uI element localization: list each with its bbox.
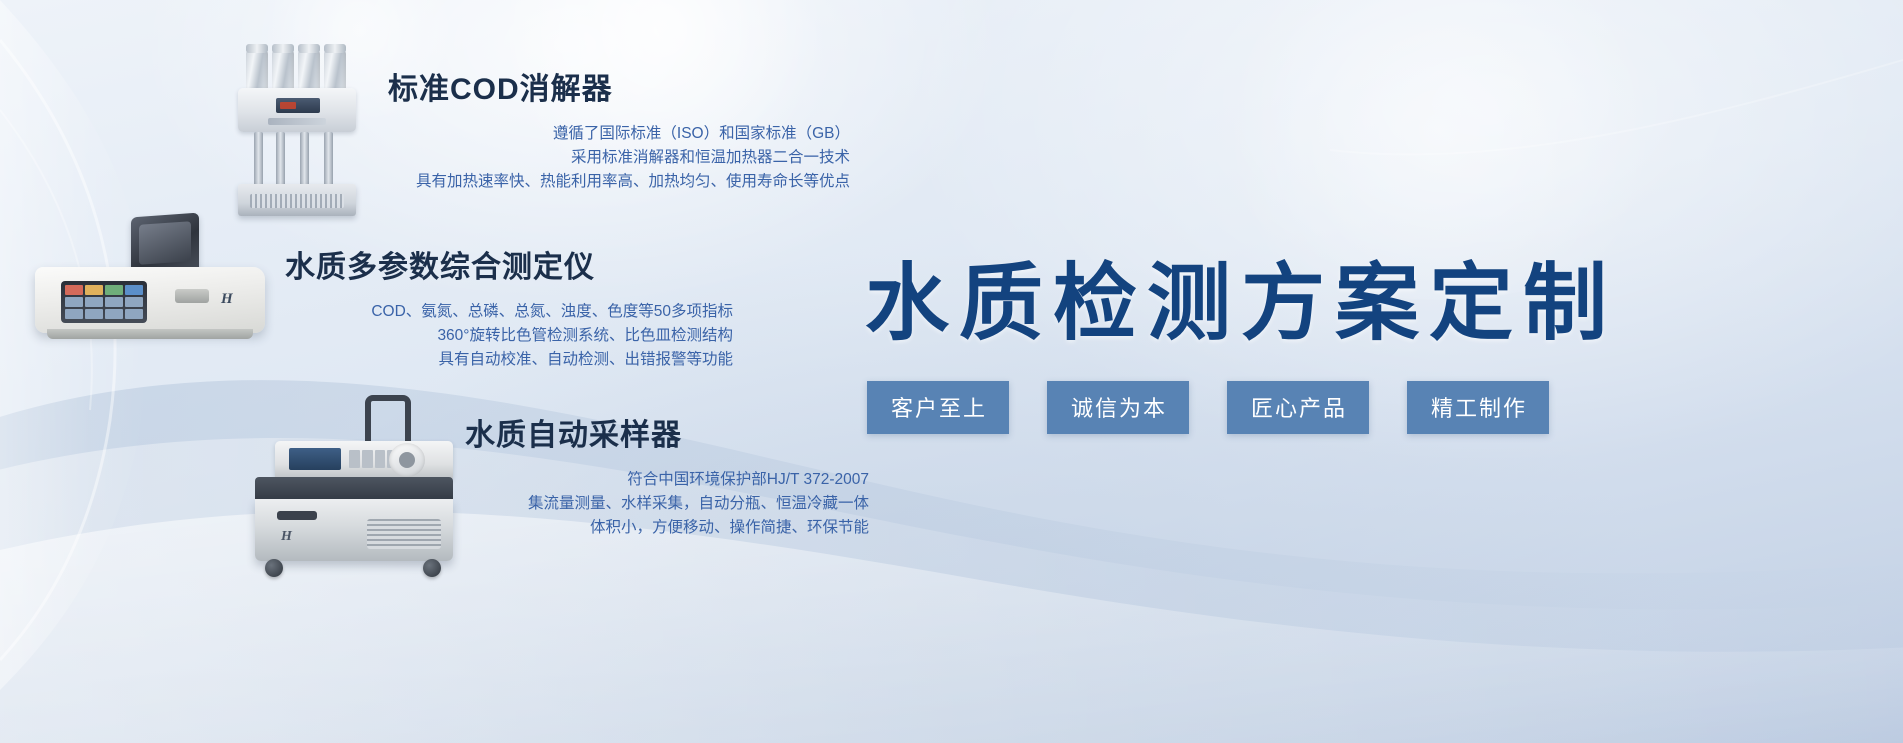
cod-digester-icon	[238, 50, 356, 216]
value-badge-fine-manufacturing[interactable]: 精工制作	[1407, 381, 1549, 434]
product-description: 遵循了国际标准（ISO）和国家标准（GB） 采用标准消解器和恒温加热器二合一技术…	[388, 122, 850, 194]
product-title: 水质自动采样器	[465, 418, 869, 454]
product-block-cod-digester: 标准COD消解器 遵循了国际标准（ISO）和国家标准（GB） 采用标准消解器和恒…	[388, 72, 850, 194]
value-badge-integrity[interactable]: 诚信为本	[1047, 381, 1189, 434]
product-description: 符合中国环境保护部HJ/T 372-2007 集流量测量、水样采集，自动分瓶、恒…	[465, 468, 869, 540]
brand-mark: H	[221, 291, 233, 308]
product-title: 水质多参数综合测定仪	[285, 250, 733, 286]
product-block-auto-sampler: 水质自动采样器 符合中国环境保护部HJ/T 372-2007 集流量测量、水样采…	[465, 418, 869, 540]
product-description-line: 集流量测量、水样采集，自动分瓶、恒温冷藏一体	[465, 492, 869, 516]
value-badge-craftsmanship[interactable]: 匠心产品	[1227, 381, 1369, 434]
banner-headline: 水质检测方案定制	[865, 236, 1617, 357]
value-badge-customer-first[interactable]: 客户至上	[867, 381, 1009, 434]
product-description-line: 具有自动校准、自动检测、出错报警等功能	[285, 348, 733, 372]
product-description-line: 360°旋转比色管检测系统、比色皿检测结构	[285, 324, 733, 348]
product-description-line: 体积小，方便移动、操作简捷、环保节能	[465, 516, 869, 540]
product-description-line: 符合中国环境保护部HJ/T 372-2007	[465, 468, 869, 492]
brand-mark: H	[281, 529, 292, 545]
product-description-line: 具有加热速率快、热能利用率高、加热均匀、使用寿命长等优点	[388, 170, 850, 194]
multi-parameter-analyzer-icon: H	[35, 215, 265, 345]
product-description-line: 遵循了国际标准（ISO）和国家标准（GB）	[388, 122, 850, 146]
product-description: COD、氨氮、总磷、总氮、浊度、色度等50多项指标 360°旋转比色管检测系统、…	[285, 300, 733, 372]
value-badge-list: 客户至上 诚信为本 匠心产品 精工制作	[867, 381, 1549, 434]
product-description-line: 采用标准消解器和恒温加热器二合一技术	[388, 146, 850, 170]
product-title: 标准COD消解器	[388, 72, 850, 108]
product-block-multi-parameter-analyzer: 水质多参数综合测定仪 COD、氨氮、总磷、总氮、浊度、色度等50多项指标 360…	[285, 250, 733, 372]
auto-sampler-icon: H	[247, 395, 462, 585]
product-description-line: COD、氨氮、总磷、总氮、浊度、色度等50多项指标	[285, 300, 733, 324]
